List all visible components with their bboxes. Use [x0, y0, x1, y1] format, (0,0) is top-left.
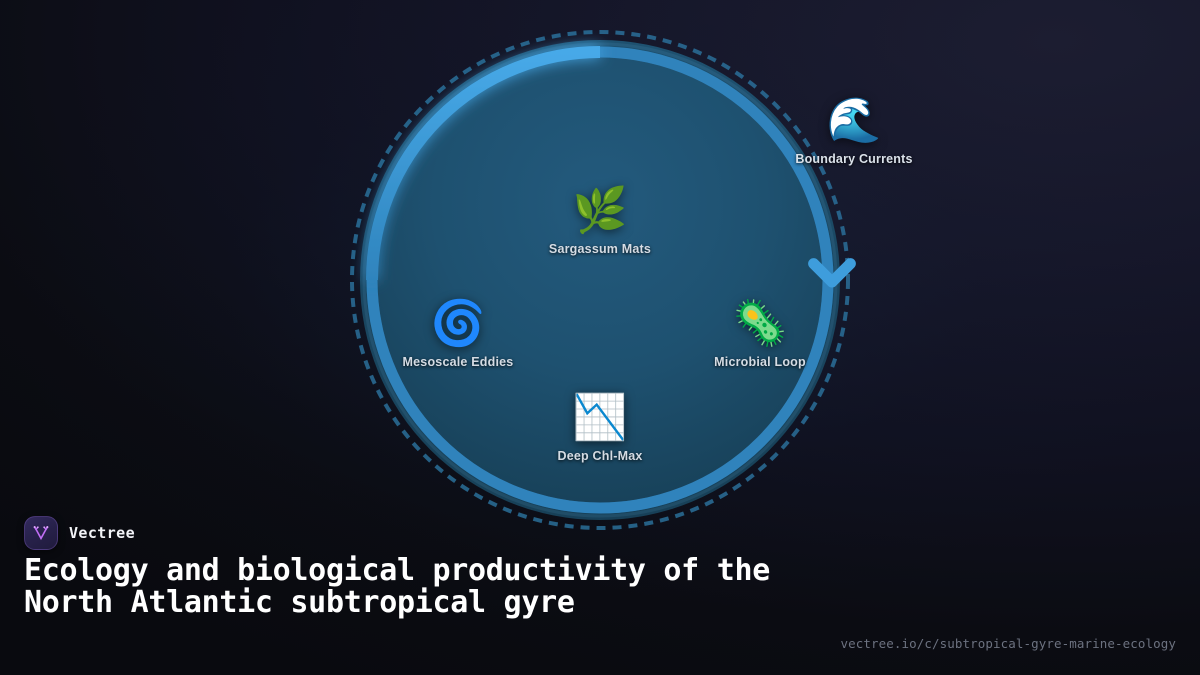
- brand-row[interactable]: Vectree: [24, 516, 135, 550]
- vectree-v-logo-icon: [24, 516, 58, 550]
- cyclone-spiral-icon: 🌀: [358, 299, 558, 349]
- page-title: Ecology and biological productivity of t…: [24, 555, 824, 619]
- brand-name: Vectree: [69, 524, 135, 542]
- water-wave-icon: 🌊: [754, 96, 954, 146]
- chart-decreasing-icon: 📉: [500, 393, 700, 443]
- node-label-boundary-currents: Boundary Currents: [754, 152, 954, 166]
- node-label-mesoscale-eddies: Mesoscale Eddies: [358, 355, 558, 369]
- node-microbial-loop[interactable]: 🦠 Microbial Loop: [660, 299, 860, 369]
- node-label-microbial-loop: Microbial Loop: [660, 355, 860, 369]
- node-sargassum-mats[interactable]: 🌿 Sargassum Mats: [500, 186, 700, 256]
- node-deep-chl-max[interactable]: 📉 Deep Chl-Max: [500, 393, 700, 463]
- footer: Vectree Ecology and biological productiv…: [0, 505, 1200, 675]
- page-url: vectree.io/c/subtropical-gyre-marine-eco…: [840, 636, 1176, 651]
- node-boundary-currents[interactable]: 🌊 Boundary Currents: [754, 96, 954, 166]
- node-label-deep-chl-max: Deep Chl-Max: [500, 449, 700, 463]
- node-label-sargassum-mats: Sargassum Mats: [500, 242, 700, 256]
- microbe-icon: 🦠: [660, 299, 860, 349]
- node-mesoscale-eddies[interactable]: 🌀 Mesoscale Eddies: [358, 299, 558, 369]
- herb-leaf-icon: 🌿: [500, 186, 700, 236]
